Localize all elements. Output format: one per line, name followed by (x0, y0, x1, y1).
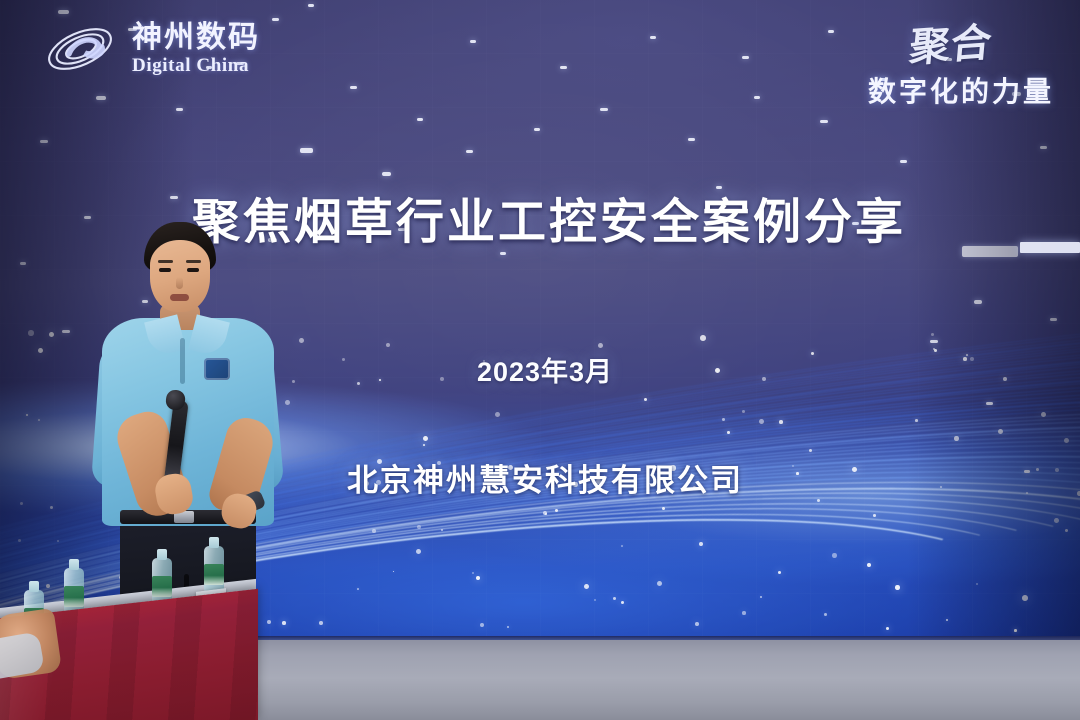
conference-stage-photo: 神州数码 Digital China 聚合 数字化的力量 聚焦烟草行业工控安全案… (0, 0, 1080, 720)
event-calligraphy: 聚合 (865, 10, 995, 77)
screen-dash-particle (272, 18, 279, 21)
logo-chinese-name: 神州数码 (132, 23, 260, 53)
speaker-eyebrow-left (158, 260, 173, 263)
sparkle-particle (423, 444, 425, 446)
screen-dash-particle (900, 160, 907, 163)
sparkle-particle (50, 506, 53, 509)
sparkle-particle (895, 585, 900, 590)
sparkle-particle (495, 412, 500, 417)
sparkle-particle (727, 431, 730, 434)
sparkle-particle (699, 542, 703, 546)
screen-dash-particle (500, 252, 506, 255)
sparkle-particle (26, 414, 28, 416)
sparkle-particle (299, 338, 304, 343)
sparkle-particle (722, 418, 725, 421)
sparkle-particle (555, 509, 558, 512)
screen-dash-particle (986, 402, 993, 405)
sparkle-particle (832, 553, 837, 558)
sparkle-particle (695, 622, 699, 626)
sparkle-particle (954, 436, 959, 441)
screen-dash-particle (600, 108, 608, 111)
logo-english-name: Digital China (132, 56, 260, 75)
screen-dash-particle (1040, 146, 1047, 149)
screen-dash-particle (688, 138, 695, 141)
event-logo: 聚合 数字化的力量 (868, 14, 1054, 110)
speaker-eyebrow-right (186, 260, 201, 263)
sparkle-particle (779, 420, 783, 424)
digital-china-logo: 神州数码 Digital China (44, 20, 260, 78)
screen-dash-particle (58, 10, 69, 14)
sparkle-particle (742, 611, 746, 615)
screen-dash-particle (40, 140, 48, 143)
screen-dash-particle (742, 56, 749, 59)
screen-dash-particle (930, 340, 938, 343)
sparkle-particle (372, 529, 376, 533)
sparkle-particle (915, 419, 918, 422)
sparkle-particle (760, 596, 762, 598)
screen-dash-particle (176, 108, 183, 111)
digital-china-swirl-icon (44, 20, 120, 78)
sparkle-particle (621, 545, 623, 547)
sparkle-particle (507, 626, 509, 628)
screen-dash-particle (308, 4, 314, 7)
sparkle-particle (700, 335, 706, 341)
screen-dash-particle (470, 40, 476, 43)
sparkle-particle (285, 400, 290, 405)
sparkle-particle (1022, 595, 1028, 601)
screen-dash-particle (417, 118, 423, 121)
screen-dash-particle (820, 120, 828, 123)
screen-dash-particle (466, 150, 473, 153)
sparkle-particle (824, 613, 827, 616)
sparkle-particle (38, 419, 40, 421)
screen-dash-particle (96, 96, 106, 100)
sparkle-particle (357, 588, 359, 590)
screen-dash-particle (560, 66, 567, 69)
sparkle-particle (598, 343, 603, 348)
screen-dash-particle (300, 148, 313, 153)
speaker-shirt-placket (180, 338, 185, 384)
sparkle-particle (57, 540, 59, 542)
screen-dash-particle (534, 128, 540, 131)
speaker-face (150, 240, 210, 312)
screen-dash-particle (754, 96, 760, 99)
screen-dash-particle (828, 30, 834, 33)
screen-dash-particle (1050, 318, 1057, 321)
sparkle-particle (1054, 518, 1059, 523)
screen-dash-particle (20, 262, 26, 265)
sparkle-particle (1014, 629, 1017, 632)
sparkle-particle (28, 330, 34, 336)
screen-dash-particle (382, 172, 391, 176)
screen-dash-particle (650, 36, 656, 39)
screen-dash-particle (974, 300, 982, 304)
speaker-eye-left (159, 268, 171, 272)
speaker-shirt-logo (204, 358, 230, 380)
screen-edge-bar (1020, 242, 1080, 253)
event-tagline: 数字化的力量 (868, 70, 1054, 110)
sparkle-particle (873, 514, 876, 517)
sparkle-particle (319, 621, 323, 625)
sparkle-particle (441, 529, 443, 531)
speaker-mouth (170, 294, 189, 301)
screen-dash-particle (350, 86, 357, 89)
sparkle-particle (759, 419, 764, 424)
sparkle-particle (417, 525, 421, 529)
speaker-eye-right (187, 268, 199, 272)
sparkle-particle (476, 576, 480, 580)
sparkle-particle (657, 581, 662, 586)
sparkle-particle (867, 563, 871, 567)
speaker-nose (176, 277, 183, 289)
screen-dash-particle (62, 330, 70, 333)
